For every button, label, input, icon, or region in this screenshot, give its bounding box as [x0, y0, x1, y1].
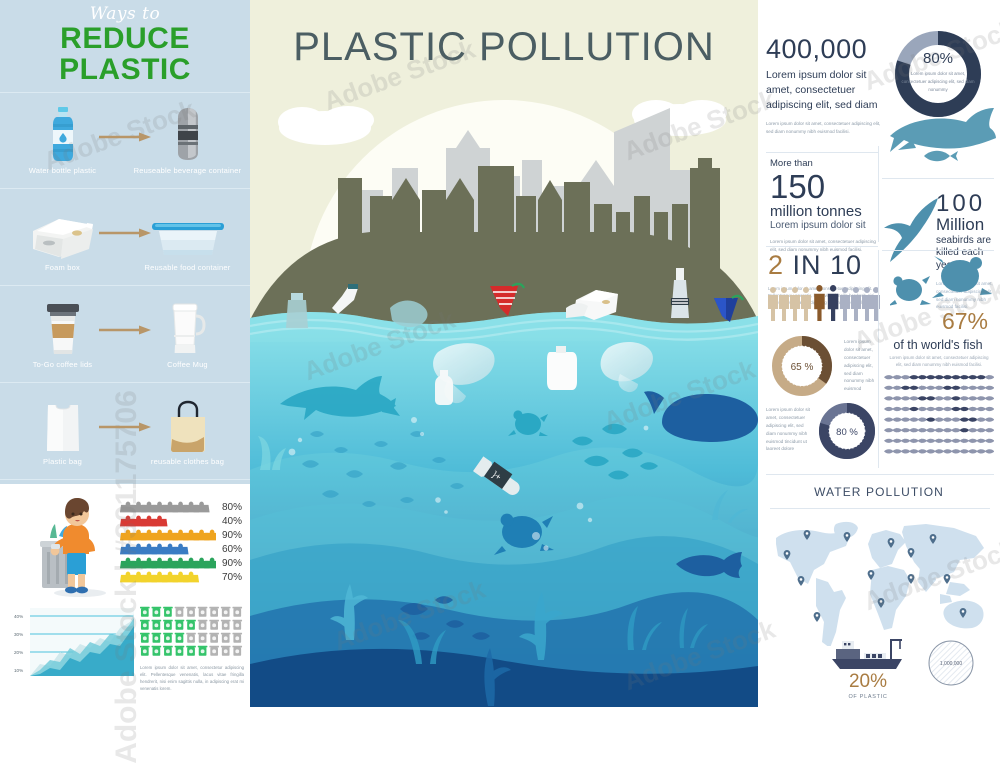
swap-from-label: Plastic bag — [0, 457, 125, 466]
plastic-bag-pictogram-chart: 80% 40% — [118, 500, 248, 584]
bag-icon-group — [118, 515, 216, 527]
stat-20-sub: OF PLASTIC — [818, 694, 918, 700]
bag-icon-group — [118, 571, 216, 583]
plastic-pollution-infographic: Ways to REDUCE PLASTIC — [0, 0, 1000, 707]
swap-list: Water bottle plastic — [0, 92, 250, 480]
divider — [878, 146, 879, 242]
swap-to-label: reusable clothes bag — [125, 457, 250, 466]
reduce-plastic-header: Ways to REDUCE PLASTIC — [0, 0, 250, 85]
divider — [766, 246, 878, 247]
ocean-scene-panel: }+ — [250, 0, 758, 707]
swap-to-label: Coffee Mug — [125, 360, 250, 369]
stat-150-number: 150 — [770, 170, 882, 203]
donut-80-bottom-lorem: Lorem ipsum dolor sit amet, consectetuer… — [766, 406, 812, 453]
world-map-continents — [776, 522, 984, 646]
svg-text:10%: 10% — [14, 668, 23, 673]
arrow-right-icon — [99, 229, 151, 238]
donut-chart-65: 65 % — [766, 330, 838, 402]
bag-row: 60% — [118, 542, 248, 556]
left-lorem-text: Lorem ipsum dolor sit amet, consectetur … — [140, 664, 244, 692]
divider — [770, 508, 990, 509]
arrow-right-icon — [99, 326, 151, 335]
stat-2in10-rest: IN 10 — [784, 250, 862, 280]
stat-2in10-prefix: 2 — [768, 250, 784, 280]
fish-pictogram-grid — [884, 374, 994, 460]
ways-to-script: Ways to — [0, 6, 250, 23]
bag-row-percent: 70% — [222, 572, 248, 583]
bag-row-percent: 90% — [222, 558, 248, 569]
bag-row: 90% — [118, 528, 248, 542]
reduce-plastic-panel: Ways to REDUCE PLASTIC — [0, 0, 250, 707]
stat-67-lorem: Lorem ipsum dolor sit amet, consectetuer… — [888, 354, 990, 369]
bag-row: 80% — [118, 500, 248, 514]
swap-to-label: Reuseable beverage container — [125, 166, 250, 175]
cargo-ship-icon — [830, 637, 908, 673]
swap-to-label: Reusable food container — [125, 263, 250, 272]
bag-icons-row-5 — [118, 571, 216, 583]
million-count-circle: 1,000,000 — [926, 638, 976, 688]
bag-icon-group — [118, 501, 216, 513]
divider — [766, 152, 878, 153]
swap-from-label: To-Go coffee lids — [0, 360, 125, 369]
reduce-word: REDUCE — [0, 24, 250, 55]
bag-row-percent: 40% — [222, 516, 248, 527]
million-count-label: 1,000,000 — [940, 661, 962, 667]
swap-row: Plastic bag reusable clothes bag — [0, 383, 250, 480]
stat-150-million-tonnes: More than 150 million tonnes Lorem ipsum… — [770, 158, 882, 254]
statistics-panel: 400,000 Lorem ipsum dolor sit amet, cons… — [758, 0, 1000, 707]
donut-80-top-percent: 80% — [898, 50, 978, 67]
bag-icons-row-0 — [118, 501, 216, 513]
boy-recycling-illustration — [40, 494, 116, 603]
plastic-trend-area-chart: 40% 30% 20% 10% — [8, 604, 136, 690]
bag-icons-row-3 — [118, 543, 216, 555]
donut-chart-80-bottom: 80 % — [814, 398, 880, 464]
stat-400000-lorem: Lorem ipsum dolor sit amet, consectetuer… — [766, 120, 886, 136]
page-title: PLASTIC POLLUTION — [250, 25, 758, 70]
bag-row: 90% — [118, 556, 248, 570]
swap-from-label: Foam box — [0, 263, 125, 272]
bin-grid-svg — [140, 606, 244, 658]
people-pictogram — [768, 285, 880, 321]
donut-80-bottom-percent: 80 % — [836, 427, 858, 438]
bag-row-percent: 90% — [222, 530, 248, 541]
swap-row: To-Go coffee lids Co — [0, 286, 250, 383]
bag-row-percent: 80% — [222, 502, 248, 513]
bag-icons-row-2 — [118, 529, 216, 541]
stat-400000-lead: Lorem ipsum dolor sit amet, consectetuer… — [766, 68, 886, 113]
stat-20-percent: 20% — [818, 672, 918, 691]
swap-from-label: Water bottle plastic — [0, 166, 125, 175]
left-chart-block: 40% 30% 20% 10% — [0, 598, 250, 713]
ocean-scene-illustration: }+ — [250, 0, 758, 707]
trash-bin-pictogram-grid — [140, 606, 244, 663]
stat-100-line1: seabirds are — [936, 235, 996, 248]
donut-65-percent: 65 % — [791, 362, 814, 373]
svg-text:20%: 20% — [14, 650, 23, 655]
stat-67-percent: 67% — [882, 308, 994, 335]
bag-icon-group — [118, 543, 216, 555]
bag-row: 40% — [118, 514, 248, 528]
stat-67-caption: of th world's fish — [882, 338, 994, 352]
plastic-word: PLASTIC — [0, 55, 250, 86]
divider — [882, 250, 994, 251]
donut-80-top-lorem: Lorem ipsum dolor sit amet, consectetuer… — [898, 70, 978, 94]
plastic-jug-debris — [547, 346, 577, 390]
donut-65-lorem: Lorem ipsum dolor sit amet, consectetuer… — [844, 338, 878, 393]
stat-400000: 400,000 Lorem ipsum dolor sit amet, cons… — [766, 36, 886, 135]
stat-150-sub: Lorem ipsum dolor sit — [770, 220, 882, 231]
bag-icon-group — [118, 557, 216, 569]
donut-80-top-labels: 80% Lorem ipsum dolor sit amet, consecte… — [898, 50, 978, 94]
svg-text:30%: 30% — [14, 632, 23, 637]
bag-icons-row-1 — [118, 515, 216, 527]
dolphin-silhouette — [884, 108, 996, 170]
bag-row: 70% — [118, 570, 248, 584]
divider — [766, 474, 994, 475]
stat-100-number: 100 — [936, 192, 996, 216]
divider — [882, 178, 994, 179]
stat-400000-number: 400,000 — [766, 36, 886, 63]
svg-text:40%: 40% — [14, 614, 23, 619]
arrow-right-icon — [99, 423, 151, 432]
bag-icon-group — [118, 529, 216, 541]
water-pollution-title: WATER POLLUTION — [758, 485, 1000, 499]
bag-row-percent: 60% — [222, 544, 248, 555]
recycling-kid-block: 80% 40% — [0, 490, 250, 602]
stat-100-unit: Million — [936, 216, 996, 235]
stat-2in10-label: 2 IN 10 — [768, 250, 880, 281]
world-map — [764, 516, 996, 646]
swap-row: Water bottle plastic — [0, 92, 250, 189]
arrow-right-icon — [99, 132, 151, 141]
swap-row: Foam box Reusable fo — [0, 189, 250, 286]
stat-150-unit: million tonnes — [770, 203, 882, 220]
bag-icons-row-4 — [118, 557, 216, 569]
